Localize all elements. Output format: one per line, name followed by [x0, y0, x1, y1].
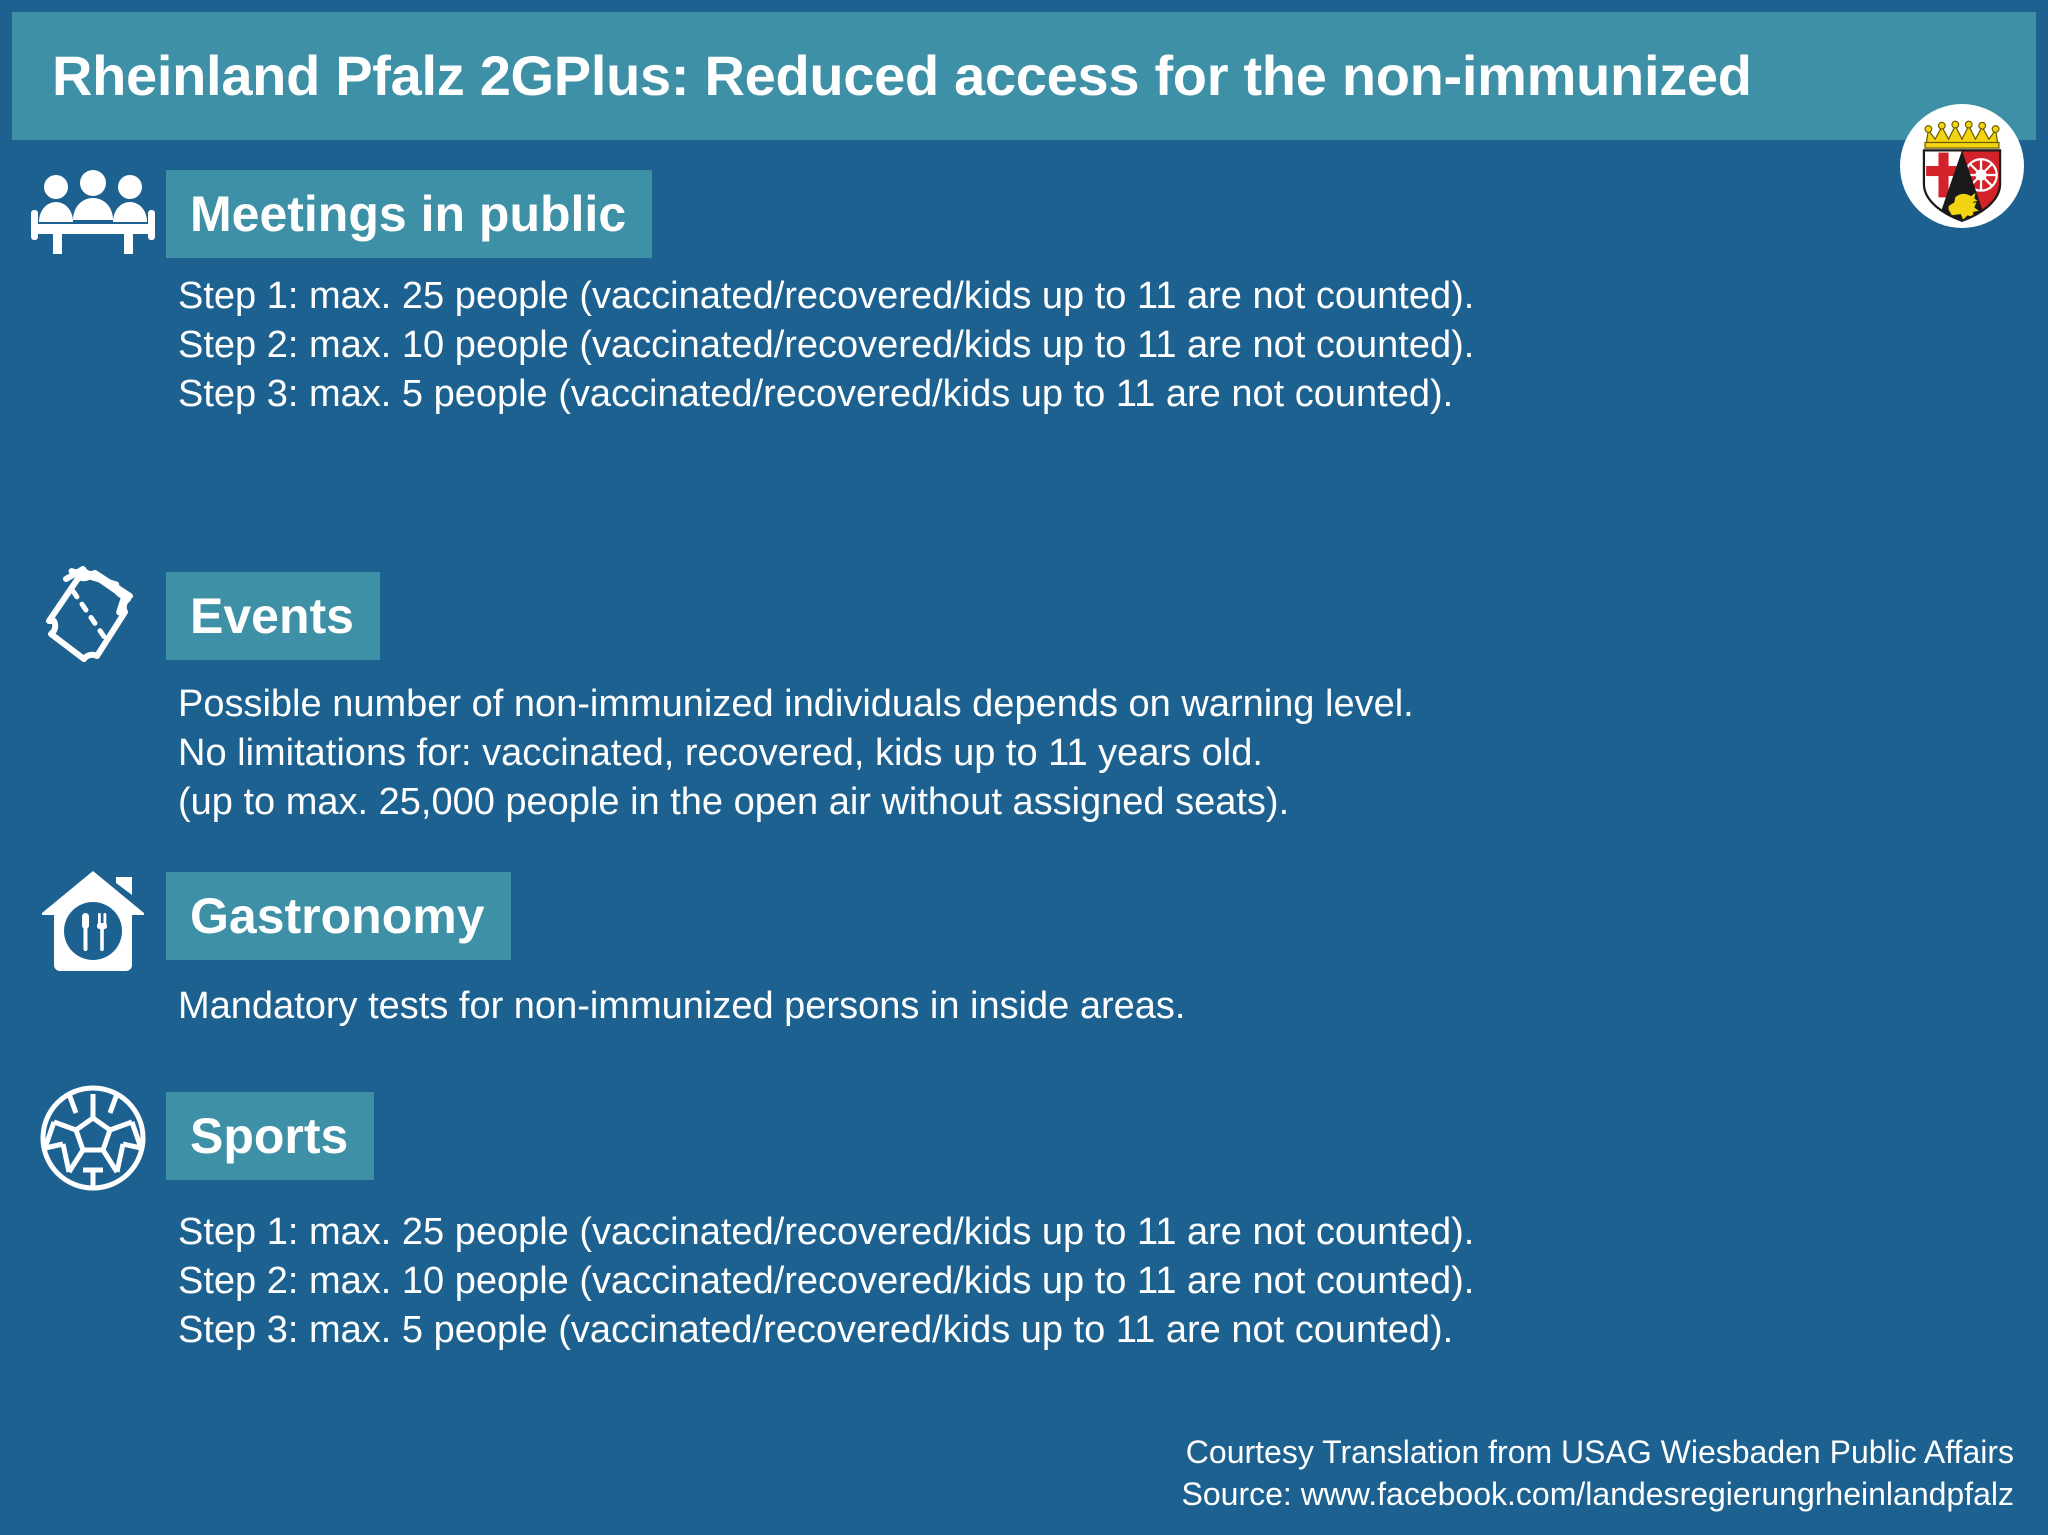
- section-title: Events: [190, 591, 354, 641]
- page-title: Rheinland Pfalz 2GPlus: Reduced access f…: [12, 48, 1752, 104]
- section-gastronomy: Gastronomy Mandatory tests for non-immun…: [0, 870, 2048, 966]
- body-line: (up to max. 25,000 people in the open ai…: [178, 778, 1978, 827]
- section-header: Events: [0, 570, 2048, 666]
- section-title: Meetings in public: [190, 189, 626, 239]
- section-title-box: Events: [166, 572, 380, 660]
- section-title-box: Sports: [166, 1092, 374, 1180]
- infographic-poster: Rheinland Pfalz 2GPlus: Reduced access f…: [0, 0, 2048, 1535]
- section-body: Step 1: max. 25 people (vaccinated/recov…: [178, 272, 1978, 419]
- soccer-ball-icon: [28, 1090, 158, 1186]
- section-title: Sports: [190, 1111, 348, 1161]
- section-events: Events Possible number of non-immunized …: [0, 570, 2048, 666]
- section-meetings-in-public: Meetings in public Step 1: max. 25 peopl…: [0, 168, 2048, 264]
- section-title-box: Meetings in public: [166, 170, 652, 258]
- section-header: Sports: [0, 1090, 2048, 1186]
- section-header: Meetings in public: [0, 168, 2048, 264]
- body-line: Step 3: max. 5 people (vaccinated/recove…: [178, 370, 1978, 419]
- body-line: Step 3: max. 5 people (vaccinated/recove…: [178, 1306, 1978, 1355]
- body-line: No limitations for: vaccinated, recovere…: [178, 729, 1978, 778]
- people-at-table-icon: [28, 168, 158, 264]
- section-title-box: Gastronomy: [166, 872, 511, 960]
- body-line: Step 2: max. 10 people (vaccinated/recov…: [178, 1257, 1978, 1306]
- body-line: Step 1: max. 25 people (vaccinated/recov…: [178, 272, 1978, 321]
- section-body: Step 1: max. 25 people (vaccinated/recov…: [178, 1208, 1978, 1355]
- section-title: Gastronomy: [190, 891, 485, 941]
- tickets-icon: [28, 570, 158, 666]
- body-line: Step 1: max. 25 people (vaccinated/recov…: [178, 1208, 1978, 1257]
- section-body: Possible number of non-immunized individ…: [178, 680, 1978, 827]
- body-line: Mandatory tests for non-immunized person…: [178, 982, 1978, 1031]
- footer-credits: Courtesy Translation from USAG Wiesbaden…: [1182, 1431, 2014, 1515]
- body-line: Step 2: max. 10 people (vaccinated/recov…: [178, 321, 1978, 370]
- footer-courtesy-line: Courtesy Translation from USAG Wiesbaden…: [1182, 1431, 2014, 1473]
- footer-source-line: Source: www.facebook.com/landesregierung…: [1182, 1473, 2014, 1515]
- section-body: Mandatory tests for non-immunized person…: [178, 982, 1978, 1031]
- body-line: Possible number of non-immunized individ…: [178, 680, 1978, 729]
- section-header: Gastronomy: [0, 870, 2048, 966]
- section-sports: Sports Step 1: max. 25 people (vaccinate…: [0, 1090, 2048, 1186]
- header-band: Rheinland Pfalz 2GPlus: Reduced access f…: [12, 12, 2036, 140]
- restaurant-house-icon: [28, 870, 158, 966]
